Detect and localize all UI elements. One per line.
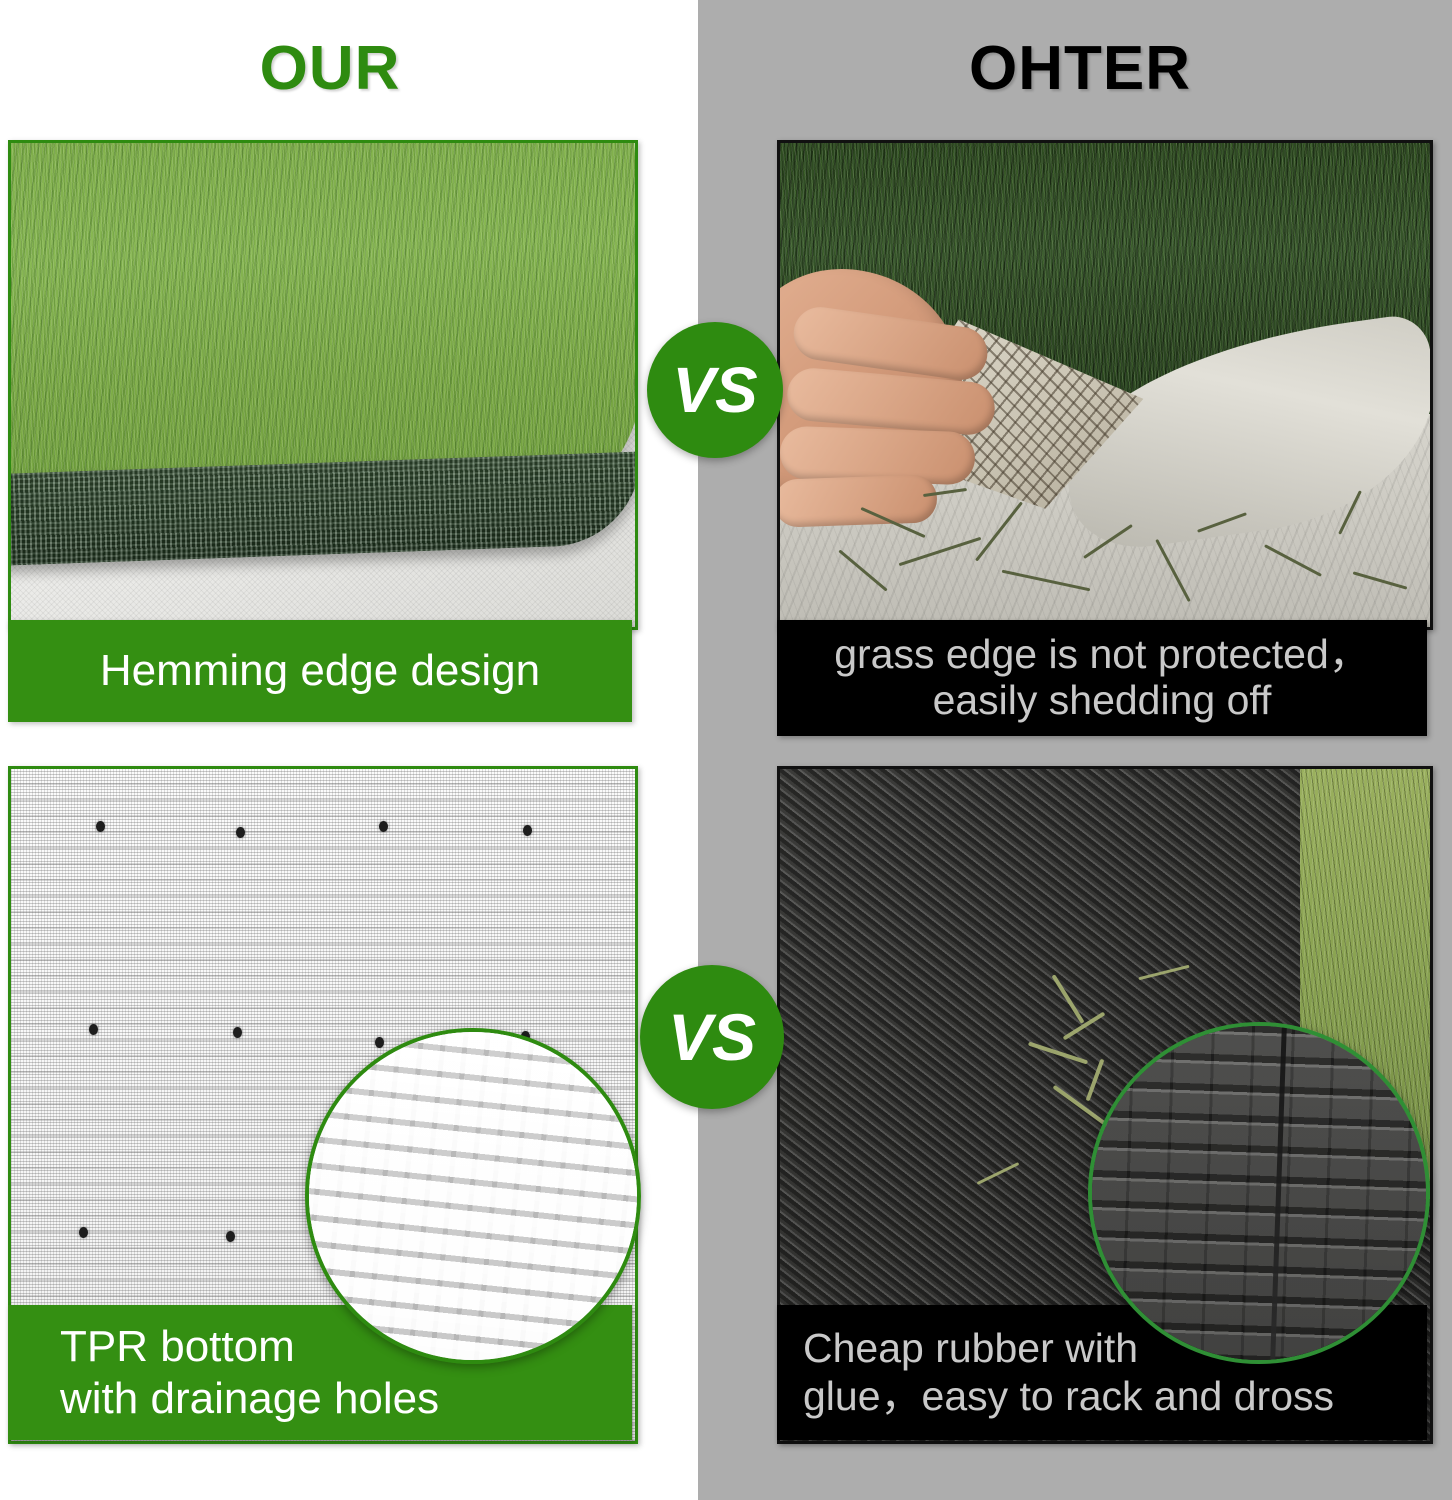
grass-tuft [977, 1162, 1020, 1185]
magnifier-inset-rubber [1088, 1022, 1430, 1364]
panel-top-right [777, 140, 1433, 630]
caption-top-left-text: Hemming edge design [100, 646, 540, 696]
drainage-hole [379, 821, 388, 832]
drainage-hole [89, 1024, 98, 1035]
magnified-rubber-texture [1092, 1026, 1426, 1360]
drainage-hole [236, 827, 245, 838]
rubber-crack [1269, 1022, 1287, 1364]
caption-top-left: Hemming edge design [8, 620, 632, 722]
caption-bottom-left-line-1: TPR bottom [60, 1321, 295, 1372]
grass-tuft [1138, 964, 1189, 979]
panel-top-left [8, 140, 638, 630]
grass-tuft [1051, 975, 1084, 1025]
vs-badge-top: VS [647, 322, 783, 458]
caption-bottom-right-line-2: glue，easy to rack and dross [803, 1373, 1334, 1421]
caption-bottom-left-line-2: with drainage holes [60, 1373, 439, 1424]
caption-top-right-line-1: grass edge is not protected， [834, 632, 1370, 678]
caption-top-right: grass edge is not protected， easily shed… [777, 620, 1427, 736]
magnified-tpr-texture [309, 1032, 637, 1360]
heading-other: OHTER [730, 28, 1430, 108]
drainage-hole [226, 1231, 235, 1242]
drainage-hole [96, 821, 105, 832]
drainage-hole [523, 825, 532, 836]
caption-bottom-right-line-1: Cheap rubber with [803, 1325, 1138, 1373]
heading-our: OUR [0, 28, 660, 108]
comparison-infographic: OUR OHTER Hemming edge design [0, 0, 1452, 1500]
magnifier-inset-tpr [305, 1028, 641, 1364]
grass-tuft [1028, 1042, 1088, 1065]
vs-badge-bottom: VS [640, 965, 784, 1109]
drainage-hole [79, 1227, 88, 1238]
drainage-hole [233, 1027, 242, 1038]
photo-shedding-edge [780, 143, 1430, 627]
caption-top-right-line-2: easily shedding off [933, 678, 1272, 724]
thumb [777, 474, 937, 528]
photo-hemming-edge [11, 143, 635, 627]
